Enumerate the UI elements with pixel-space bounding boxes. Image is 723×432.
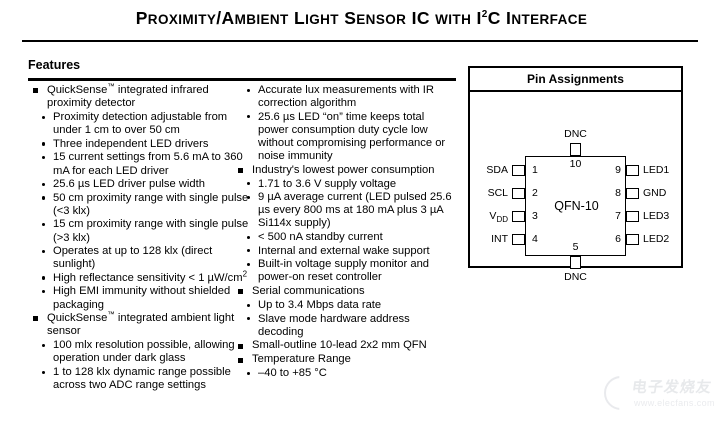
feature-subitem: Accurate lux measurements with IR correc… <box>243 84 455 110</box>
dot-bullet-icon <box>42 371 45 374</box>
dot-bullet-icon <box>42 250 45 253</box>
feature-sublist: 1.71 to 3.6 V supply voltage9 µA average… <box>243 178 455 285</box>
feature-subitem-label: High EMI immunity without shielded packa… <box>53 285 250 311</box>
feature-subitem-label: Internal and external wake support <box>258 245 455 258</box>
feature-subitem-label: 15 current settings from 5.6 mA to 360 m… <box>53 151 250 177</box>
features-list-2: Accurate lux measurements with IR correc… <box>233 84 455 381</box>
square-bullet-icon <box>238 344 243 349</box>
feature-subitem: –40 to +85 °C <box>243 367 455 380</box>
pin-label-SDA: SDA <box>470 164 508 176</box>
feature-subitem: Three independent LED drivers <box>38 138 250 151</box>
feature-subitem-label: Three independent LED drivers <box>53 138 250 151</box>
feature-subitem-label: 1 to 128 klx dynamic range possible acro… <box>53 366 250 392</box>
square-bullet-icon <box>238 358 243 363</box>
feature-item: Serial communications <box>233 285 455 298</box>
pin-pad-6 <box>626 234 639 245</box>
feature-subitem-label: Accurate lux measurements with IR correc… <box>258 84 455 110</box>
pin-pad-4 <box>512 234 525 245</box>
watermark-text: 电子发烧友 <box>631 376 714 397</box>
dot-bullet-icon <box>247 249 250 252</box>
feature-subitem: 50 cm proximity range with single pulse … <box>38 192 250 218</box>
feature-sublist: Up to 3.4 Mbps data rateSlave mode hardw… <box>243 299 455 339</box>
feature-subitem: 15 cm proximity range with single pulse … <box>38 218 250 244</box>
pin-label-VDD: VDD <box>470 210 508 222</box>
feature-item: Temperature Range <box>233 353 455 366</box>
feature-subitem: Operates at up to 128 klx (direct sunlig… <box>38 245 250 271</box>
square-bullet-icon <box>238 168 243 173</box>
dot-bullet-icon <box>247 304 250 307</box>
feature-sublist: –40 to +85 °C <box>243 367 455 380</box>
pin-pad-1 <box>512 165 525 176</box>
square-bullet-icon <box>33 88 38 93</box>
pin-label-GND: GND <box>643 187 666 199</box>
feature-item: QuickSense™ integrated ambient light sen… <box>28 312 250 338</box>
feature-subitem: 1.71 to 3.6 V supply voltage <box>243 178 455 191</box>
square-bullet-icon <box>33 316 38 321</box>
pin-assignments-heading: Pin Assignments <box>470 68 681 92</box>
feature-item-label: Serial communications <box>252 285 455 298</box>
dot-bullet-icon <box>247 196 250 199</box>
feature-subitem-label: 15 cm proximity range with single pulse … <box>53 218 250 244</box>
feature-subitem-label: 9 µA average current (LED pulsed 25.6 µs… <box>258 191 455 230</box>
dot-bullet-icon <box>42 116 45 119</box>
pin-pad-5 <box>570 256 581 269</box>
pin-number-2: 2 <box>532 187 538 199</box>
feature-subitem-label: Slave mode hardware address decoding <box>258 313 455 339</box>
feature-subgroup: 100 mlx resolution possible, allowing op… <box>28 339 250 392</box>
pin-assignments-box: Pin Assignments QFN-10 1SDA2SCL3VDD4INT9… <box>468 66 683 268</box>
pin-diagram: QFN-10 1SDA2SCL3VDD4INT9LED18GND7LED36LE… <box>470 92 681 267</box>
feature-subitem: 25.6 µs LED driver pulse width <box>38 178 250 191</box>
feature-subitem: 9 µA average current (LED pulsed 25.6 µs… <box>243 191 455 230</box>
pin-label-bottom-DNC: DNC <box>525 271 626 283</box>
dot-bullet-icon <box>247 263 250 266</box>
features-rule <box>28 78 456 81</box>
feature-item-label: QuickSense™ integrated ambient light sen… <box>47 312 250 338</box>
feature-subitem-label: 1.71 to 3.6 V supply voltage <box>258 178 455 191</box>
features-heading: Features <box>28 58 80 72</box>
dot-bullet-icon <box>247 372 250 375</box>
pin-number-10: 10 <box>525 158 626 170</box>
feature-subitem: Internal and external wake support <box>243 245 455 258</box>
feature-subitem: High EMI immunity without shielded packa… <box>38 285 250 311</box>
pin-label-LED1: LED1 <box>643 164 669 176</box>
feature-subitem: 1 to 128 klx dynamic range possible acro… <box>38 366 250 392</box>
features-column-1: QuickSense™ integrated infrared proximit… <box>28 84 250 393</box>
feature-subgroup: Accurate lux measurements with IR correc… <box>233 84 455 163</box>
feature-subgroup: –40 to +85 °C <box>233 367 455 380</box>
feature-subitem: 25.6 µs LED “on” time keeps total power … <box>243 111 455 163</box>
dot-bullet-icon <box>247 182 250 185</box>
feature-subitem-label: Up to 3.4 Mbps data rate <box>258 299 455 312</box>
feature-item-label: Industry's lowest power consumption <box>252 164 455 177</box>
feature-item-label: QuickSense™ integrated infrared proximit… <box>47 84 250 110</box>
square-bullet-icon <box>238 289 243 294</box>
feature-subgroup: Up to 3.4 Mbps data rateSlave mode hardw… <box>233 299 455 339</box>
dot-bullet-icon <box>247 317 250 320</box>
pin-label-INT: INT <box>470 233 508 245</box>
feature-item: Industry's lowest power consumption <box>233 164 455 177</box>
watermark: 电子发烧友 www.elecfans.com <box>604 372 720 428</box>
dot-bullet-icon <box>42 183 45 186</box>
pin-label-SCL: SCL <box>470 187 508 199</box>
pin-number-7: 7 <box>611 210 621 222</box>
features-column-2: Accurate lux measurements with IR correc… <box>233 84 455 381</box>
pin-label-top-DNC: DNC <box>525 128 626 140</box>
feature-subitem: Slave mode hardware address decoding <box>243 313 455 339</box>
pin-number-8: 8 <box>611 187 621 199</box>
feature-subitem-label: High reflectance sensitivity < 1 µW/cm2 <box>53 272 250 285</box>
feature-subitem-label: < 500 nA standby current <box>258 231 455 244</box>
page-title: PROXIMITY/AMBIENT LIGHT SENSOR IC WITH I… <box>0 8 723 29</box>
dot-bullet-icon <box>247 89 250 92</box>
feature-sublist: 100 mlx resolution possible, allowing op… <box>38 339 250 392</box>
feature-subitem: Up to 3.4 Mbps data rate <box>243 299 455 312</box>
feature-subitem-label: Proximity detection adjustable from unde… <box>53 111 250 137</box>
feature-subitem: Proximity detection adjustable from unde… <box>38 111 250 137</box>
pin-label-LED2: LED2 <box>643 233 669 245</box>
pin-pad-8 <box>626 188 639 199</box>
feature-subgroup: Proximity detection adjustable from unde… <box>28 111 250 311</box>
feature-subitem-label: 25.6 µs LED driver pulse width <box>53 178 250 191</box>
feature-subitem-label: Built-in voltage supply monitor and powe… <box>258 258 455 284</box>
dot-bullet-icon <box>42 223 45 226</box>
pin-pad-10 <box>570 143 581 156</box>
feature-sublist: Accurate lux measurements with IR correc… <box>243 84 455 163</box>
feature-item: Small-outline 10-lead 2x2 mm QFN <box>233 339 455 352</box>
feature-subgroup: 1.71 to 3.6 V supply voltage9 µA average… <box>233 178 455 285</box>
feature-subitem-label: –40 to +85 °C <box>258 367 455 380</box>
pin-pad-9 <box>626 165 639 176</box>
feature-subitem-label: 25.6 µs LED “on” time keeps total power … <box>258 111 455 163</box>
page-title-text: PROXIMITY/AMBIENT LIGHT SENSOR IC WITH I… <box>136 8 588 28</box>
dot-bullet-icon <box>42 156 45 159</box>
pin-label-LED3: LED3 <box>643 210 669 222</box>
pin-number-3: 3 <box>532 210 538 222</box>
dot-bullet-icon <box>247 236 250 239</box>
feature-subitem-label: Operates at up to 128 klx (direct sunlig… <box>53 245 250 271</box>
pin-number-5: 5 <box>525 241 626 253</box>
feature-item: QuickSense™ integrated infrared proximit… <box>28 84 250 110</box>
dot-bullet-icon <box>247 115 250 118</box>
feature-subitem-label: 100 mlx resolution possible, allowing op… <box>53 339 250 365</box>
dot-bullet-icon <box>42 344 45 347</box>
pin-pad-7 <box>626 211 639 222</box>
pin-pad-3 <box>512 211 525 222</box>
feature-item-label: Small-outline 10-lead 2x2 mm QFN <box>252 339 455 352</box>
dot-bullet-icon <box>42 142 45 145</box>
feature-subitem: High reflectance sensitivity < 1 µW/cm2 <box>38 272 250 285</box>
feature-subitem-label: 50 cm proximity range with single pulse … <box>53 192 250 218</box>
features-list-1: QuickSense™ integrated infrared proximit… <box>28 84 250 392</box>
feature-sublist: Proximity detection adjustable from unde… <box>38 111 250 311</box>
feature-subitem: < 500 nA standby current <box>243 231 455 244</box>
dot-bullet-icon <box>42 290 45 293</box>
feature-subitem: 15 current settings from 5.6 mA to 360 m… <box>38 151 250 177</box>
datasheet-page: PROXIMITY/AMBIENT LIGHT SENSOR IC WITH I… <box>0 0 723 432</box>
feature-subitem: 100 mlx resolution possible, allowing op… <box>38 339 250 365</box>
feature-subitem: Built-in voltage supply monitor and powe… <box>243 258 455 284</box>
title-rule <box>22 40 698 42</box>
feature-item-label: Temperature Range <box>252 353 455 366</box>
dot-bullet-icon <box>42 196 45 199</box>
pin-pad-2 <box>512 188 525 199</box>
watermark-url: www.elecfans.com <box>634 398 715 408</box>
dot-bullet-icon <box>42 276 45 279</box>
